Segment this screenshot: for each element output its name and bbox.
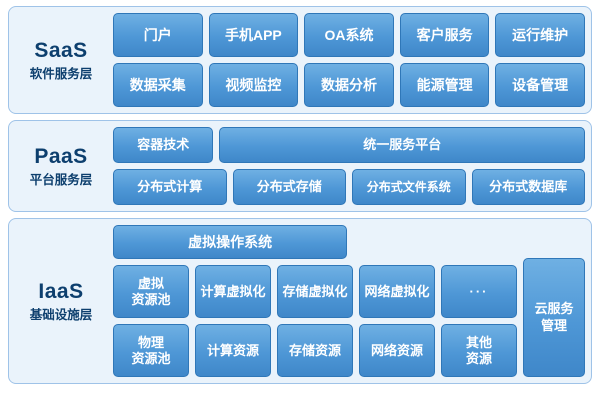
- iaas-row-2: 物理资源池 计算资源 存储资源 网络资源 其他资源: [113, 324, 517, 377]
- saas-row-1: 门户 手机APP OA系统 客户服务 运行维护: [113, 13, 585, 57]
- iaas-subtitle: 基础设施层: [30, 308, 93, 324]
- paas-row-2: 分布式计算 分布式存储 分布式文件系统 分布式数据库: [113, 169, 585, 205]
- saas-subtitle: 软件服务层: [30, 67, 93, 83]
- saas-tile[interactable]: 数据采集: [113, 63, 203, 107]
- iaas-tile-more-ellipsis[interactable]: ···: [441, 265, 517, 318]
- architecture-diagram: SaaS 软件服务层 门户 手机APP OA系统 客户服务 运行维护 数据采集 …: [0, 0, 600, 400]
- paas-row-1: 容器技术 统一服务平台: [113, 127, 585, 163]
- iaas-tile[interactable]: 存储虚拟化: [277, 265, 353, 318]
- iaas-tile[interactable]: 存储资源: [277, 324, 353, 377]
- paas-tile-container-tech[interactable]: 容器技术: [113, 127, 213, 163]
- layer-iaas: IaaS 基础设施层 虚拟操作系统 虚拟资源池 计算虚拟化 存储虚拟化 网络虚拟…: [8, 218, 592, 384]
- iaas-tile[interactable]: 网络资源: [359, 324, 435, 377]
- iaas-label: IaaS 基础设施层: [15, 225, 107, 377]
- iaas-tile-virtual-pool[interactable]: 虚拟资源池: [113, 265, 189, 318]
- saas-tile[interactable]: 客户服务: [400, 13, 490, 57]
- saas-tile[interactable]: 运行维护: [495, 13, 585, 57]
- layer-saas: SaaS 软件服务层 门户 手机APP OA系统 客户服务 运行维护 数据采集 …: [8, 6, 592, 114]
- saas-body: 门户 手机APP OA系统 客户服务 运行维护 数据采集 视频监控 数据分析 能…: [113, 13, 585, 107]
- paas-tile[interactable]: 分布式数据库: [472, 169, 586, 205]
- saas-label: SaaS 软件服务层: [15, 13, 107, 107]
- iaas-body: 虚拟操作系统 虚拟资源池 计算虚拟化 存储虚拟化 网络虚拟化 ··· 物理资源池…: [113, 225, 585, 377]
- paas-label: PaaS 平台服务层: [15, 127, 107, 205]
- layer-paas: PaaS 平台服务层 容器技术 统一服务平台 分布式计算 分布式存储 分布式文件…: [8, 120, 592, 212]
- paas-tile[interactable]: 分布式存储: [233, 169, 347, 205]
- paas-title: PaaS: [34, 144, 87, 170]
- iaas-tile[interactable]: 计算资源: [195, 324, 271, 377]
- iaas-row-1: 虚拟资源池 计算虚拟化 存储虚拟化 网络虚拟化 ···: [113, 265, 517, 318]
- saas-tile[interactable]: 设备管理: [495, 63, 585, 107]
- iaas-row-top: 虚拟操作系统: [113, 225, 517, 259]
- paas-tile-unified-platform[interactable]: 统一服务平台: [219, 127, 585, 163]
- saas-tile[interactable]: 视频监控: [209, 63, 299, 107]
- iaas-tile-virtual-os[interactable]: 虚拟操作系统: [113, 225, 347, 259]
- saas-tile[interactable]: OA系统: [304, 13, 394, 57]
- iaas-tile-cloud-service-management[interactable]: 云服务管理: [523, 258, 585, 377]
- paas-body: 容器技术 统一服务平台 分布式计算 分布式存储 分布式文件系统 分布式数据库: [113, 127, 585, 205]
- iaas-tile-other-resources[interactable]: 其他资源: [441, 324, 517, 377]
- iaas-tile-physical-pool[interactable]: 物理资源池: [113, 324, 189, 377]
- iaas-stack: 虚拟操作系统 虚拟资源池 计算虚拟化 存储虚拟化 网络虚拟化 ··· 物理资源池…: [113, 225, 517, 377]
- paas-tile[interactable]: 分布式文件系统: [352, 169, 466, 205]
- iaas-tile[interactable]: 计算虚拟化: [195, 265, 271, 318]
- saas-tile[interactable]: 门户: [113, 13, 203, 57]
- saas-row-2: 数据采集 视频监控 数据分析 能源管理 设备管理: [113, 63, 585, 107]
- paas-subtitle: 平台服务层: [30, 173, 93, 189]
- iaas-tile[interactable]: 网络虚拟化: [359, 265, 435, 318]
- saas-title: SaaS: [34, 38, 87, 64]
- saas-tile[interactable]: 数据分析: [304, 63, 394, 107]
- paas-tile[interactable]: 分布式计算: [113, 169, 227, 205]
- saas-tile[interactable]: 手机APP: [209, 13, 299, 57]
- iaas-title: IaaS: [38, 279, 83, 305]
- saas-tile[interactable]: 能源管理: [400, 63, 490, 107]
